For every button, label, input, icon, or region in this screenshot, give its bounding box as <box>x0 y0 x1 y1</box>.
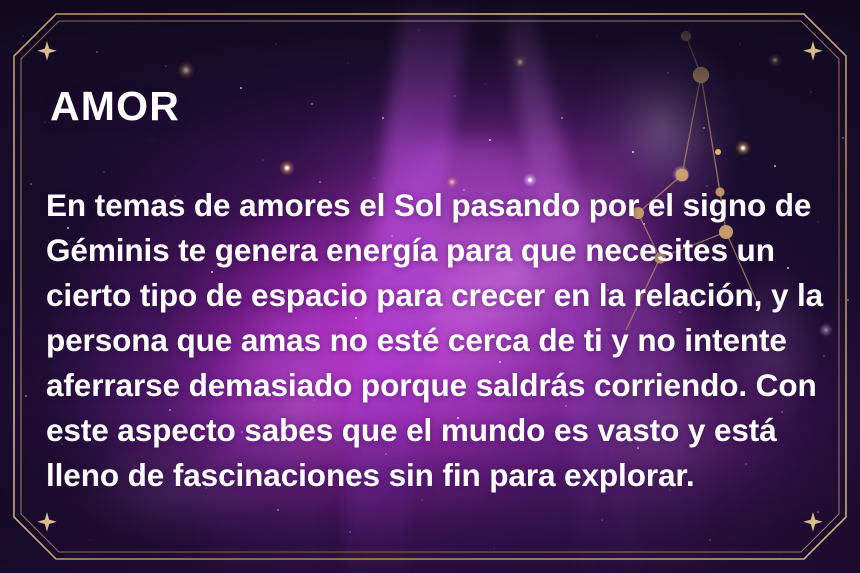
horoscope-body-text: En temas de amores el Sol pasando por el… <box>46 183 828 498</box>
sparkle-tr <box>803 41 823 61</box>
page-title: AMOR <box>50 86 836 127</box>
sparkle-bl <box>37 512 57 532</box>
sparkle-br <box>803 512 823 532</box>
horoscope-amor-card: AMOR En temas de amores el Sol pasando p… <box>0 0 860 573</box>
card-content: AMOR En temas de amores el Sol pasando p… <box>46 86 836 498</box>
sparkle-tl <box>37 41 57 61</box>
